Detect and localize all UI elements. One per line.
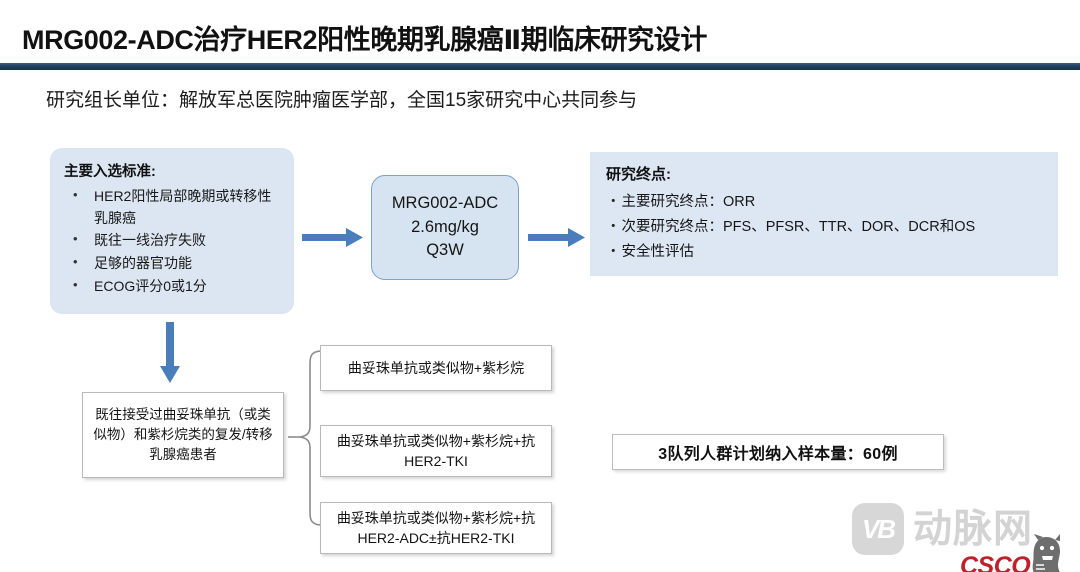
csco-logo-text: CSCO [960, 554, 1030, 572]
subtitle-text: 研究组长单位：解放军总医院肿瘤医学部，全国15家研究中心共同参与 [46, 85, 637, 112]
arrow-down-icon [160, 322, 182, 384]
sample-size-box: 3队列人群计划纳入样本量：60例 [612, 434, 944, 470]
cohort-box-3: 曲妥珠单抗或类似物+紫杉烷+抗HER2-ADC±抗HER2-TKI [320, 502, 552, 554]
drug-schedule: Q3W [426, 239, 464, 262]
arrow-right-icon [302, 228, 364, 248]
study-endpoints-box: 研究终点: 主要研究终点：ORR 次要研究终点：PFS、PFSR、TTR、DOR… [590, 152, 1058, 276]
treatment-regimen-box: MRG002-ADC 2.6mg/kg Q3W [371, 175, 519, 280]
list-item: 主要研究终点：ORR [606, 190, 1058, 215]
brace-connector-icon [288, 348, 324, 528]
list-item: 次要研究终点：PFS、PFSR、TTR、DOR、DCR和OS [606, 215, 1058, 240]
study-endpoints-list: 主要研究终点：ORR 次要研究终点：PFS、PFSR、TTR、DOR、DCR和O… [606, 190, 1058, 265]
slide-canvas: MRG002-ADC治疗HER2阳性晚期乳腺癌Ⅱ期临床研究设计 研究组长单位：解… [0, 0, 1080, 572]
inclusion-criteria-title: 主要入选标准: [64, 160, 284, 181]
cohort-box-2: 曲妥珠单抗或类似物+紫杉烷+抗HER2-TKI [320, 425, 552, 477]
vb-logo-icon: VB [852, 503, 904, 555]
list-item: ECOG评分0或1分 [64, 276, 284, 298]
list-item: 安全性评估 [606, 240, 1058, 265]
title-divider [0, 63, 1080, 70]
list-item: HER2阳性局部晚期或转移性乳腺癌 [64, 186, 284, 229]
list-item: 既往一线治疗失败 [64, 230, 284, 252]
inclusion-criteria-list: HER2阳性局部晚期或转移性乳腺癌 既往一线治疗失败 足够的器官功能 ECOG评… [64, 186, 284, 297]
prior-treatment-box: 既往接受过曲妥珠单抗（或类似物）和紫杉烷类的复发/转移乳腺癌患者 [82, 392, 284, 478]
list-item: 足够的器官功能 [64, 253, 284, 275]
tiger-mascot-icon [1024, 534, 1070, 572]
drug-name: MRG002-ADC [392, 192, 498, 215]
csco-logo: CSCO [960, 534, 1070, 572]
page-title: MRG002-ADC治疗HER2阳性晚期乳腺癌Ⅱ期临床研究设计 [22, 18, 707, 57]
arrow-right-icon [528, 228, 586, 248]
study-endpoints-title: 研究终点: [606, 163, 1058, 184]
drug-dose: 2.6mg/kg [411, 216, 479, 239]
inclusion-criteria-box: 主要入选标准: HER2阳性局部晚期或转移性乳腺癌 既往一线治疗失败 足够的器官… [50, 148, 294, 314]
cohort-box-1: 曲妥珠单抗或类似物+紫杉烷 [320, 345, 552, 391]
